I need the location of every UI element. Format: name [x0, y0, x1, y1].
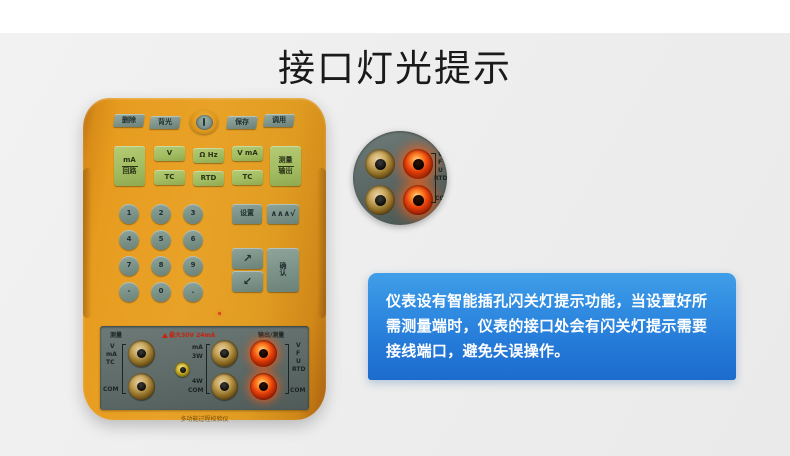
inset-label-com: COM [435, 195, 447, 202]
key-ma-loop-top: mA [123, 157, 136, 164]
key-v-ma-label: V mA [237, 150, 258, 157]
key-delete[interactable]: 删除 [113, 114, 145, 127]
keypad-8[interactable]: 8 [151, 256, 171, 276]
arrow-down-icon: ↙ [243, 276, 252, 288]
inset-jack-top-left [365, 149, 395, 179]
key-backlight[interactable]: 背光 [149, 116, 181, 129]
key-output-label: 输出 [279, 168, 293, 175]
jack-output-4w-com[interactable] [211, 373, 238, 400]
jack-hole [137, 349, 146, 358]
power-bar [203, 118, 205, 126]
key-v-label: V [167, 150, 172, 157]
keypad-0-label: 0 [159, 288, 164, 295]
bracket-left [122, 344, 126, 394]
keypad-9-label: 9 [191, 262, 196, 269]
label-left-v: V [110, 343, 115, 350]
panel-warning-text: 最大30V 24mA [169, 332, 215, 339]
keypad-6[interactable]: 6 [183, 230, 203, 250]
label-right-f: F [296, 350, 300, 357]
label-left-com: COM [103, 386, 118, 393]
key-settings[interactable]: 设置 [232, 204, 262, 224]
keypad-5-label: 5 [159, 236, 164, 243]
page-root: 接口灯光提示 删除 背光 保存 调用 [0, 0, 790, 456]
keypad-1-label: 1 [127, 210, 132, 217]
keypad-2-label: 2 [159, 210, 164, 217]
inset-label-u: U [438, 167, 443, 174]
inset-bracket [431, 153, 436, 203]
keypad-1[interactable]: 1 [119, 204, 139, 224]
key-ohm-hz[interactable]: Ω Hz [193, 148, 224, 163]
status-led [218, 312, 221, 315]
label-mid-com: COM [188, 387, 203, 394]
key-v[interactable]: V [154, 146, 185, 161]
label-right-u: U [296, 358, 301, 365]
keypad-2[interactable]: 2 [151, 204, 171, 224]
key-confirm-bottom: 认 [280, 270, 287, 277]
inset-label-v: V [438, 151, 443, 158]
jack-output-v-f-u-rtd-lit[interactable] [250, 340, 277, 367]
warning-triangle-icon [162, 333, 168, 338]
key-backlight-label: 背光 [158, 119, 172, 126]
key-rtd-label: RTD [201, 175, 217, 182]
keypad-dot-label: . [192, 288, 195, 295]
inset-label-f: F [438, 159, 442, 166]
info-callout-text: 仪表设有智能插孔闪关灯提示功能，当设置好所需测量端时，仪表的接口处会有闪关灯提示… [368, 289, 736, 364]
power-button[interactable] [190, 110, 218, 134]
key-save[interactable]: 保存 [226, 116, 258, 129]
keypad-minus[interactable]: - [119, 282, 139, 302]
waveform-icon: ∧∧∧√ [271, 210, 296, 218]
inset-jack-bottom-right-lit [403, 185, 433, 215]
keypad-7[interactable]: 7 [119, 256, 139, 276]
jack-output-ma-3w[interactable] [211, 340, 238, 367]
inset-jack-top-right-lit [403, 149, 433, 179]
panel-warning: 最大30V 24mA [162, 330, 215, 339]
key-measure-output[interactable]: 测量 输出 [270, 146, 301, 186]
jack-hole [259, 349, 268, 358]
panel-left-title: 测量 [110, 330, 122, 339]
key-rtd[interactable]: RTD [193, 171, 224, 186]
label-mid-4w: 4W [192, 378, 203, 385]
arrow-up-icon: ↗ [243, 253, 252, 265]
keypad-0[interactable]: 0 [151, 282, 171, 302]
calibrator-device: 删除 背光 保存 调用 mA 回路 V [83, 98, 326, 420]
keypad-5[interactable]: 5 [151, 230, 171, 250]
jack-hole [220, 382, 229, 391]
keypad-6-label: 6 [191, 236, 196, 243]
key-recall-label: 调用 [272, 117, 286, 124]
jack-measure-com[interactable] [128, 373, 155, 400]
bracket-right [285, 344, 289, 394]
info-callout: 仪表设有智能插孔闪关灯提示功能，当设置好所需测量端时，仪表的接口处会有闪关灯提示… [368, 273, 736, 380]
key-measure-label: 测量 [279, 157, 293, 164]
key-tc-1[interactable]: TC [154, 170, 185, 185]
label-right-rtd: RTD [292, 366, 305, 373]
label-mid-ma: mA [192, 344, 203, 351]
keypad-3-label: 3 [191, 210, 196, 217]
jack-hole [259, 382, 268, 391]
key-arrow-up[interactable]: ↗ [232, 248, 263, 269]
port-closeup-inset: V F U RTD COM [353, 131, 447, 225]
key-v-ma[interactable]: V mA [232, 146, 263, 161]
jack-measure-v-ma-tc[interactable] [128, 340, 155, 367]
jack-hole [180, 367, 186, 373]
device-face: 删除 背光 保存 调用 mA 回路 V [92, 104, 317, 414]
power-icon [196, 115, 213, 130]
key-delete-label: 删除 [122, 117, 136, 124]
jack-hole [413, 159, 424, 170]
key-waveform[interactable]: ∧∧∧√ [267, 204, 299, 224]
key-save-label: 保存 [235, 119, 249, 126]
label-left-ma: mA [106, 351, 117, 358]
keypad-7-label: 7 [127, 262, 132, 269]
background-top-band [0, 0, 790, 33]
page-title: 接口灯光提示 [0, 48, 790, 90]
key-tc-1-label: TC [165, 174, 175, 181]
keypad-3[interactable]: 3 [183, 204, 203, 224]
key-tc-2[interactable]: TC [232, 170, 263, 185]
jack-hole [413, 195, 424, 206]
jack-hole [220, 349, 229, 358]
panel-right-title: 输出/测量 [258, 330, 284, 339]
keypad-8-label: 8 [159, 262, 164, 269]
keypad-9[interactable]: 9 [183, 256, 203, 276]
label-left-tc: TC [106, 359, 115, 366]
jack-hole [137, 382, 146, 391]
device-model-label: 多功能过程校验仪 [100, 414, 309, 423]
jack-hole [375, 159, 386, 170]
keypad-4[interactable]: 4 [119, 230, 139, 250]
keypad-4-label: 4 [127, 236, 132, 243]
key-settings-label: 设置 [240, 210, 254, 217]
key-recall[interactable]: 调用 [263, 114, 295, 127]
key-arrow-down[interactable]: ↙ [232, 271, 263, 292]
keypad-minus-label: - [128, 288, 131, 295]
key-ohm-hz-label: Ω Hz [199, 152, 217, 159]
key-ma-loop[interactable]: mA 回路 [114, 146, 145, 186]
bracket-mid [206, 344, 210, 394]
jack-hole [375, 195, 386, 206]
key-ma-loop-bottom: 回路 [123, 168, 137, 175]
keypad-dot[interactable]: . [183, 282, 203, 302]
label-right-com: COM [290, 387, 305, 394]
key-confirm[interactable]: 确 认 [267, 248, 299, 292]
label-mid-3w: 3W [192, 353, 203, 360]
inset-jack-bottom-left [365, 185, 395, 215]
label-right-v: V [296, 342, 301, 349]
key-tc-2-label: TC [243, 174, 253, 181]
jack-ground[interactable] [175, 362, 190, 377]
terminal-panel: 测量 最大30V 24mA 输出/测量 V mA TC COM mA 3W 4W… [100, 326, 309, 410]
jack-output-com-lit[interactable] [250, 373, 277, 400]
